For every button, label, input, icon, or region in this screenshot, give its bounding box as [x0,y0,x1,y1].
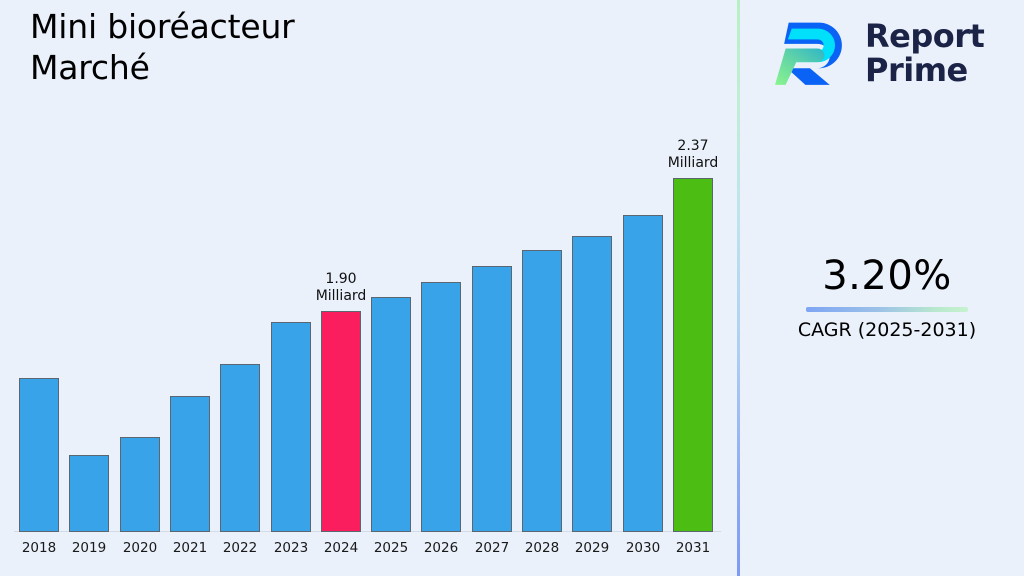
bar-2030 [623,215,663,532]
panel-divider [737,0,740,576]
cagr-value: 3.20% [760,252,1014,300]
bar-2024 [321,311,361,532]
bar-2018 [19,378,59,532]
brand-logo: Report Prime [775,10,1015,96]
cagr-block: 3.20% CAGR (2025-2031) [760,252,1014,342]
x-tick-2031: 2031 [663,540,723,556]
report-prime-logo-icon [775,15,851,91]
bar-2022 [220,364,260,532]
bar-2031 [673,178,713,532]
bar-2028 [522,250,562,532]
bar-2029 [572,236,612,532]
bar-value-label-2024: 1.90 Milliard [293,271,389,305]
cagr-caption: CAGR (2025-2031) [760,318,1014,342]
bar-chart: 1.90 Milliard2.37 Milliard 2018201920202… [0,0,737,576]
bar-2020 [120,437,160,532]
bar-2019 [69,455,109,532]
cagr-divider-rule [806,307,968,312]
bar-2021 [170,396,210,532]
bar-2025 [371,297,411,532]
infographic-root: Mini bioréacteur Marché 1.90 Milliard2.3… [0,0,1024,576]
bar-2026 [421,282,461,532]
bar-2023 [271,322,311,532]
brand-name: Report Prime [865,19,984,87]
bar-value-label-2031: 2.37 Milliard [645,138,741,172]
bar-2027 [472,266,512,532]
